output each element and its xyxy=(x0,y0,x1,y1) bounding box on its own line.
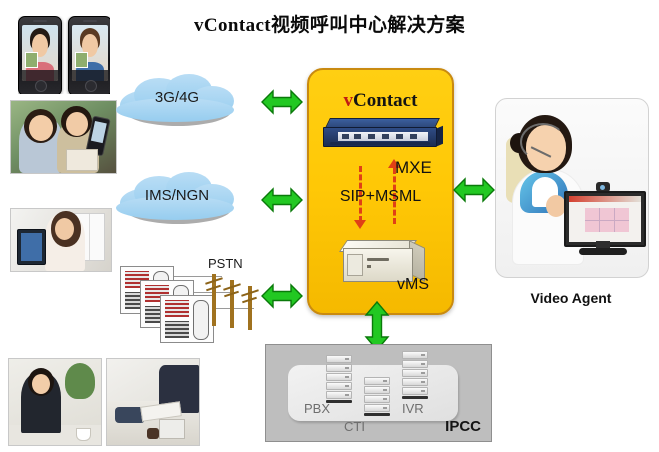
vcontact-rest: Contact xyxy=(353,90,417,111)
video-agent-label: Video Agent xyxy=(495,290,647,306)
network-cloud-imsngn: IMS/NGN xyxy=(112,170,242,226)
ipcc-node-label-cti: CTI xyxy=(344,419,365,434)
vms-label: vMS xyxy=(397,276,429,294)
tablet-device-icon xyxy=(17,229,46,265)
network-cloud-3g4g: 3G/4G xyxy=(112,72,242,128)
earpiece-icon xyxy=(33,20,47,22)
utility-pole-icon-3 xyxy=(248,286,252,330)
photo-woman-with-tablet xyxy=(10,208,112,272)
server-rack-ivr xyxy=(402,351,428,399)
monitor-icon xyxy=(564,191,642,255)
calculator-icon xyxy=(159,419,185,439)
vcontact-initial: v xyxy=(344,90,354,111)
arrow-imsngn-to-vcontact xyxy=(260,186,304,214)
ipcc-node-label-pbx: PBX xyxy=(304,401,330,416)
server-rack-pbx xyxy=(326,355,352,403)
photo-call-center-agent-with-monitor xyxy=(495,98,649,278)
telephone-icon-3 xyxy=(160,295,214,343)
pstn-group: PSTN xyxy=(112,262,260,344)
home-button-icon xyxy=(85,80,97,92)
video-thumbnail-grid xyxy=(585,208,629,232)
protocol-arrow-down-head xyxy=(354,220,366,229)
protocol-label: SIP+MSML xyxy=(309,188,452,206)
earpiece-icon xyxy=(83,20,97,22)
photo-office-worker-at-desk xyxy=(8,358,102,446)
phone-screen-left xyxy=(22,25,58,81)
smartphone-left xyxy=(18,16,62,94)
arrow-pstn-to-vcontact xyxy=(260,282,304,310)
mxe-label: MXE xyxy=(395,158,432,178)
home-button-icon xyxy=(35,80,47,92)
ipcc-node-label-ivr: IVR xyxy=(402,401,424,416)
headset-icon xyxy=(520,123,566,161)
arrow-3g4g-to-vcontact xyxy=(260,88,304,116)
phone-screen-right xyxy=(72,25,108,81)
smartphone-right xyxy=(68,16,110,94)
mxe-server-icon xyxy=(323,118,439,154)
vcontact-solution-box: vContact MXE SIP+MSML vMS xyxy=(307,68,454,315)
utility-pole-icon-2 xyxy=(230,280,234,328)
cloud-label-imsngn: IMS/NGN xyxy=(112,187,242,204)
caller-face-male xyxy=(72,25,108,81)
utility-pole-icon-1 xyxy=(212,274,216,326)
server-rack-cti xyxy=(364,377,390,416)
photo-office-desk-equipment xyxy=(106,358,200,446)
vcontact-title: vContact xyxy=(309,90,452,112)
caller-face-female xyxy=(22,25,58,81)
photo-two-users-mobile-video-call xyxy=(10,100,117,174)
ipcc-label: IPCC xyxy=(445,418,481,435)
pip-thumbnail xyxy=(25,52,38,68)
ipcc-panel: PBX CTI IVR IPCC xyxy=(265,344,492,442)
pstn-label: PSTN xyxy=(208,256,243,271)
photo-video-call-smartphones xyxy=(18,16,110,94)
cloud-label-3g4g: 3G/4G xyxy=(112,89,242,106)
arrow-vcontact-to-video-agent xyxy=(452,176,496,204)
pip-thumbnail xyxy=(75,52,88,68)
